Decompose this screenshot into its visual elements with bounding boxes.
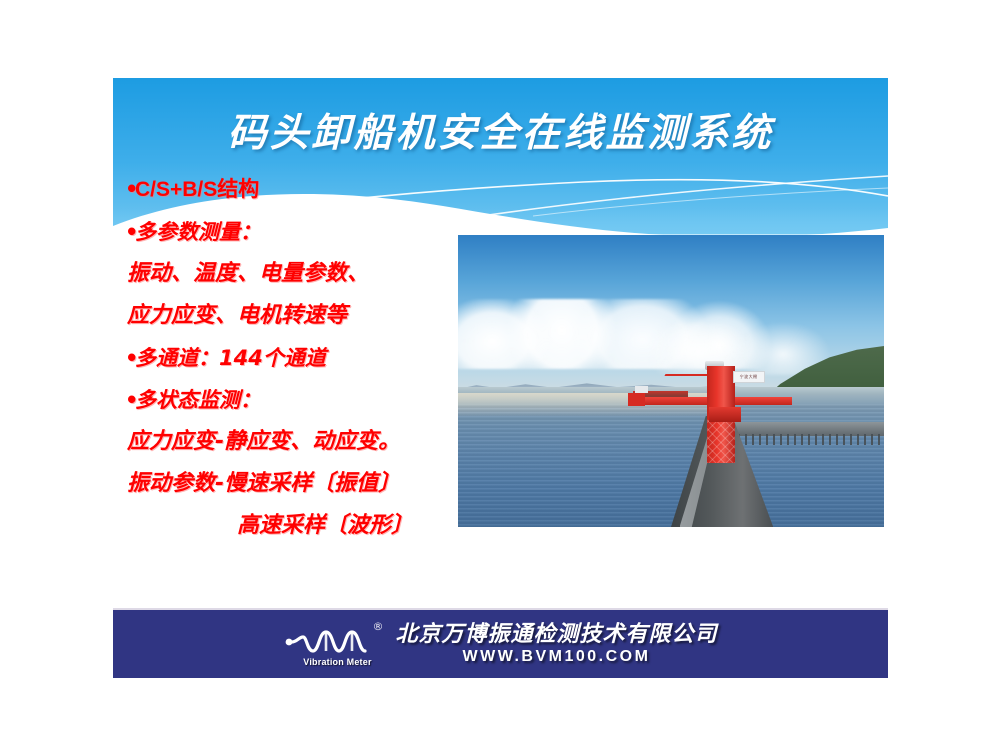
- photo-crane-sign: 宁波大榭: [733, 371, 765, 384]
- bullet-line-2: •多参数测量：: [125, 211, 475, 253]
- bullet-line-1: •C/S+B/S结构: [125, 168, 475, 211]
- photo-ship-superstructure: [635, 386, 648, 393]
- bullet-line-7: 应力应变-静应变、动应变。: [125, 421, 475, 463]
- slide-title: 码头卸船机安全在线监测系统: [113, 102, 888, 158]
- port-crane-photo: 宁波大榭: [458, 235, 884, 527]
- bullet-line-1-text: C/S+B/S结构: [135, 178, 259, 201]
- waveform-logo-icon: [283, 620, 385, 660]
- logo-subtitle: Vibration Meter: [289, 657, 385, 667]
- bullet-line-6: •多状态监测：: [125, 379, 475, 421]
- photo-wharf-piles: [731, 434, 884, 446]
- photo-crane-boom-tip: [628, 393, 645, 406]
- bullet-line-3: 振动、温度、电量参数、: [125, 253, 475, 295]
- bullet-line-6-text: 多状态监测：: [135, 388, 261, 412]
- bullet-marker-icon: •: [125, 337, 135, 379]
- bullet-line-8: 振动参数-慢速采样〔振值〕: [125, 463, 475, 505]
- photo-crane-sign-text: 宁波大榭: [734, 372, 764, 382]
- registered-trademark-icon: ®: [372, 620, 383, 633]
- company-info: 北京万博振通检测技术有限公司 WWW.BVM100.COM: [395, 623, 717, 665]
- footer-content: ® Vibration Meter 北京万博振通检测技术有限公司 WWW.BVM…: [113, 610, 888, 678]
- bullet-line-9: 高速采样〔波形〕: [125, 505, 475, 547]
- bullet-line-4: 应力应变、电机转速等: [125, 295, 475, 337]
- bullet-line-5-text: 多通道：144个通道: [135, 346, 326, 370]
- bullet-marker-icon: •: [125, 379, 135, 421]
- presentation-slide: 码头卸船机安全在线监测系统 •C/S+B/S结构 •多参数测量： 振动、温度、电…: [113, 78, 888, 603]
- vibration-meter-logo: ® Vibration Meter: [283, 620, 385, 668]
- bullet-line-5: •多通道：144个通道: [125, 337, 475, 379]
- photo-crane-machinery: [709, 407, 741, 422]
- bullet-line-2-text: 多参数测量：: [135, 220, 261, 244]
- footer-bar: ® Vibration Meter 北京万博振通检测技术有限公司 WWW.BVM…: [113, 608, 888, 678]
- photo-crane-lattice: [707, 416, 735, 463]
- company-website-url[interactable]: WWW.BVM100.COM: [463, 648, 651, 665]
- bullet-marker-icon: •: [125, 211, 135, 253]
- slide-stage: 码头卸船机安全在线监测系统 •C/S+B/S结构 •多参数测量： 振动、温度、电…: [0, 0, 1000, 750]
- slide-body-text: •C/S+B/S结构 •多参数测量： 振动、温度、电量参数、 应力应变、电机转速…: [125, 168, 475, 547]
- bullet-marker-icon: •: [125, 168, 135, 210]
- company-name: 北京万博振通检测技术有限公司: [395, 623, 717, 647]
